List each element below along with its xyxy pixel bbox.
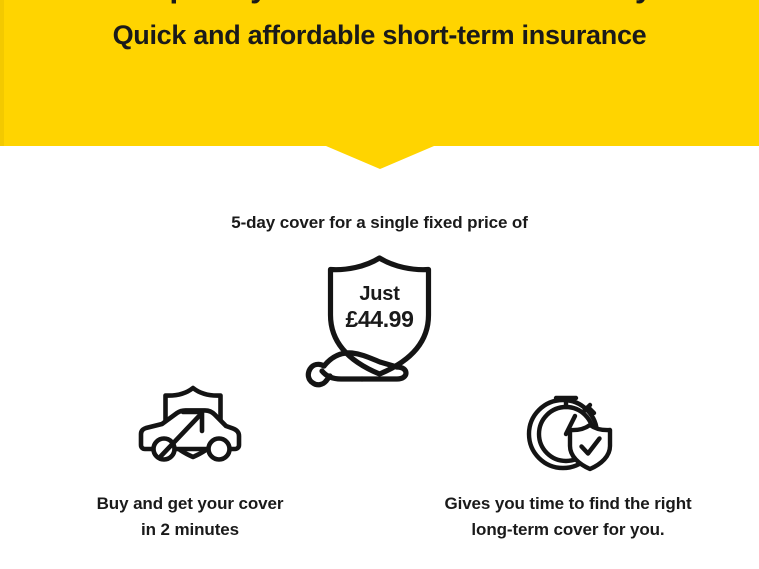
hero-notch-triangle	[326, 146, 434, 169]
feature-caption-line-1: Gives you time to find the right	[398, 491, 738, 517]
price-lead-text: 5-day cover for a single fixed price of	[0, 211, 759, 235]
hero-banner: Temporary car insurance made easy Quick …	[0, 0, 759, 146]
hero-subtitle: Quick and affordable short-term insuranc…	[0, 16, 759, 54]
feature-caption-line-1: Buy and get your cover	[20, 491, 360, 517]
stopwatch-with-shield-check-icon	[398, 380, 738, 472]
car-with-shield-arrow-icon	[20, 380, 360, 472]
feature-caption-line-2: long-term cover for you.	[398, 517, 738, 543]
feature-buy-in-2-minutes: Buy and get your cover in 2 minutes	[20, 380, 360, 543]
hero-title: Temporary car insurance made easy	[0, 0, 759, 6]
feature-caption: Buy and get your cover in 2 minutes	[20, 491, 360, 543]
feature-time-to-find-cover: Gives you time to find the right long-te…	[398, 380, 738, 543]
feature-caption-line-2: in 2 minutes	[20, 517, 360, 543]
feature-caption: Gives you time to find the right long-te…	[398, 491, 738, 543]
shield-in-hand-icon: Just £44.99	[302, 252, 457, 392]
